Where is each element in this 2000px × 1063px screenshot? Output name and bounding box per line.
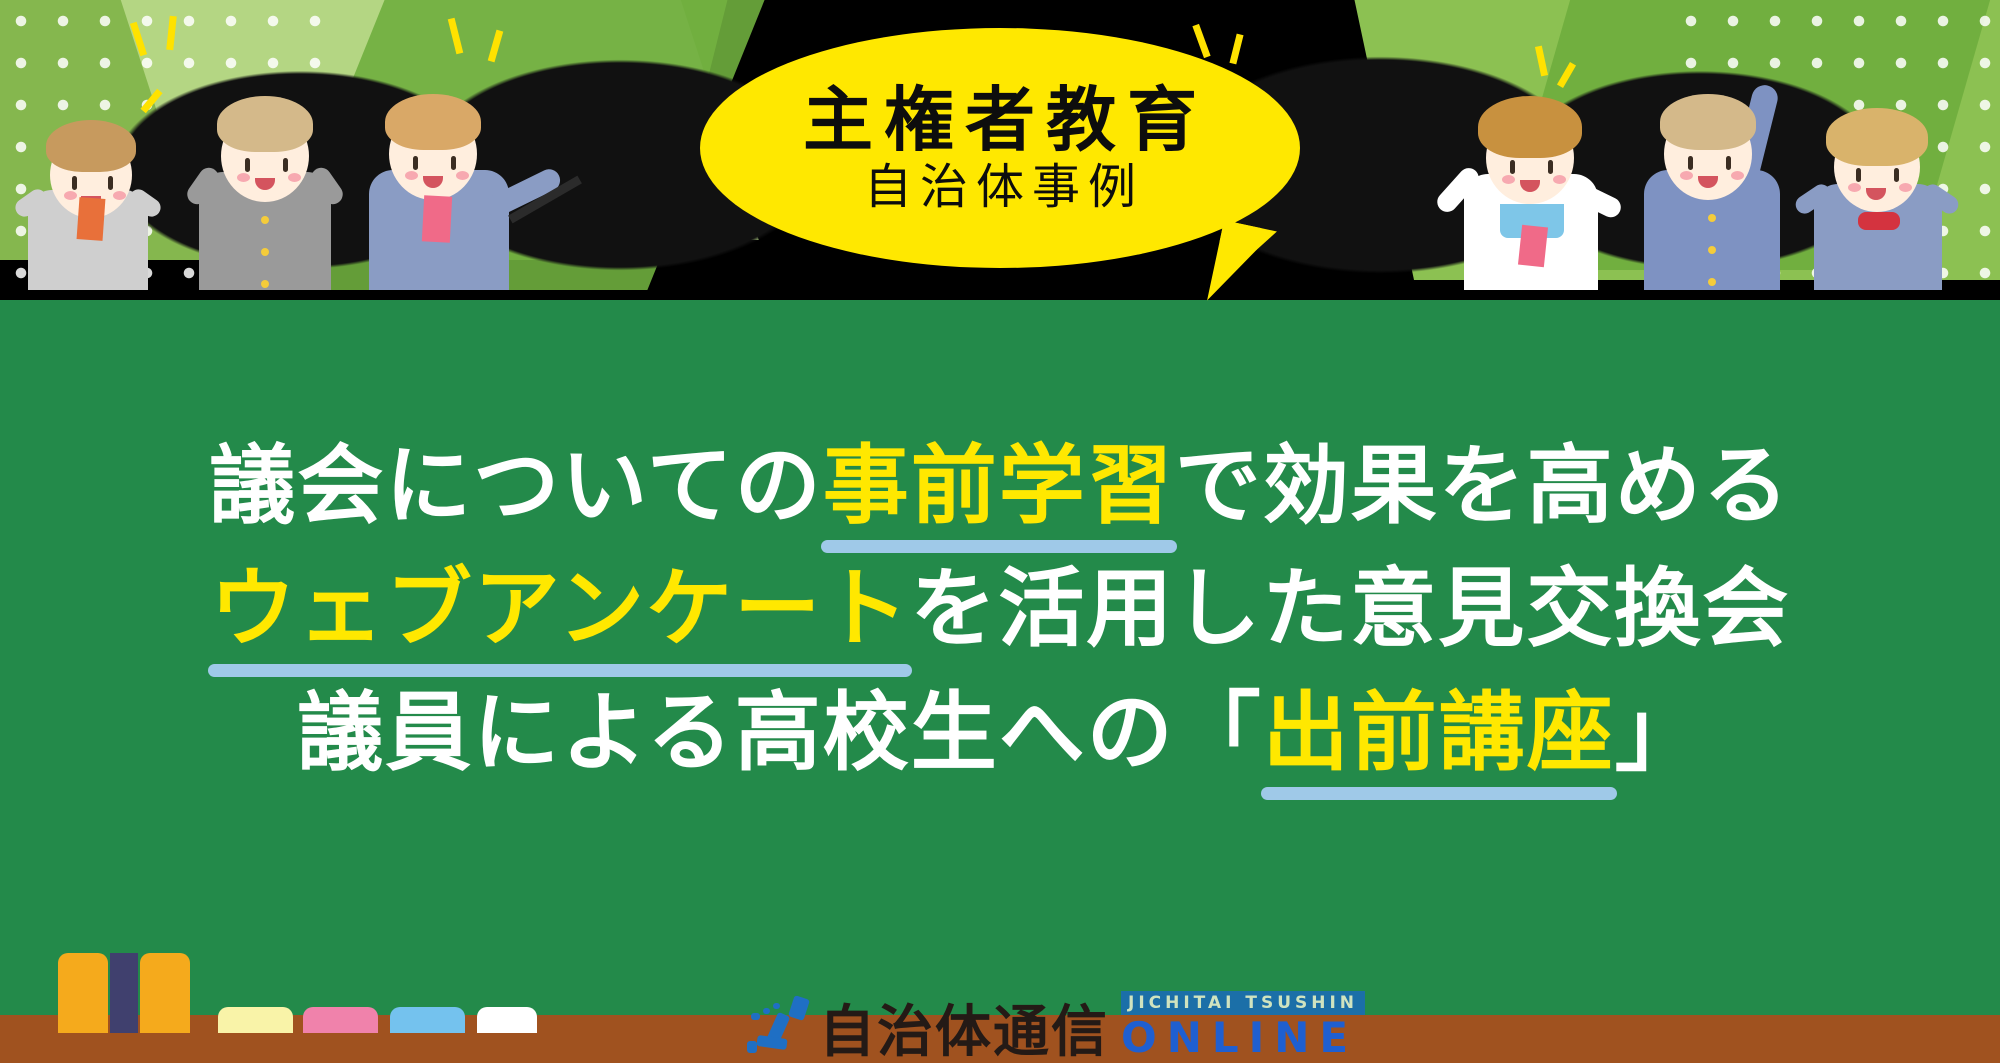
students-illustration bbox=[1800, 80, 1960, 300]
headline-block: 議会についての 事前学習 で効果を高める ウェブアンケート を活用した意見交換会… bbox=[0, 300, 2000, 920]
book-shape bbox=[110, 953, 138, 1033]
hero-bottom-edge bbox=[0, 290, 2000, 300]
logo-online: ONLINE bbox=[1121, 1015, 1365, 1061]
book-shape bbox=[58, 953, 108, 1033]
speech-bubble-text: 主権者教育 自治体事例 bbox=[700, 28, 1300, 268]
site-logo[interactable]: 自治体通信 JICHITAI TSUSHIN ONLINE bbox=[745, 985, 1365, 1063]
students-illustration bbox=[355, 50, 545, 300]
book-shape bbox=[140, 953, 190, 1033]
headline-line-3-part-c: 」 bbox=[1615, 683, 1703, 784]
headline-line-3-part-a: 議員による高校生への「 bbox=[297, 683, 1262, 784]
banner-root: 主権者教育 自治体事例 議会についての 事前学習 で効果を高める ウェブアンケー… bbox=[0, 0, 2000, 1063]
logo-romaji: JICHITAI TSUSHIN bbox=[1121, 991, 1365, 1015]
book-shape bbox=[303, 1007, 378, 1033]
students-illustration bbox=[185, 60, 345, 300]
book-shape bbox=[218, 1007, 293, 1033]
students-illustration bbox=[1450, 60, 1620, 300]
bubble-line-2: 自治体事例 bbox=[856, 163, 1144, 211]
book-shape bbox=[390, 1007, 465, 1033]
headline-line-2-part-c: を活用した意見交換会 bbox=[910, 559, 1790, 660]
logo-english-block: JICHITAI TSUSHIN ONLINE bbox=[1121, 991, 1365, 1061]
students-illustration bbox=[1630, 30, 1800, 300]
headline-line-2: ウェブアンケート を活用した意見交換会 bbox=[210, 559, 1791, 660]
bubble-line-1: 主権者教育 bbox=[792, 85, 1208, 155]
book-shape bbox=[477, 1007, 537, 1033]
headline-line-1-highlight: 事前学習 bbox=[823, 436, 1175, 537]
students-illustration bbox=[20, 90, 160, 300]
logo-japanese-text: 自治体通信 bbox=[819, 1005, 1109, 1061]
japan-map-icon bbox=[745, 997, 811, 1059]
books-icon bbox=[0, 943, 520, 1033]
headline-line-2-highlight: ウェブアンケート bbox=[210, 559, 911, 660]
headline-line-1-part-a: 議会についての bbox=[209, 436, 822, 537]
headline-line-1-part-c: で効果を高める bbox=[1175, 436, 1791, 537]
headline-line-3-highlight: 出前講座 bbox=[1263, 683, 1615, 784]
headline-line-3: 議員による高校生への「 出前講座 」 bbox=[297, 683, 1702, 784]
headline-line-1: 議会についての 事前学習 で効果を高める bbox=[209, 436, 1790, 537]
